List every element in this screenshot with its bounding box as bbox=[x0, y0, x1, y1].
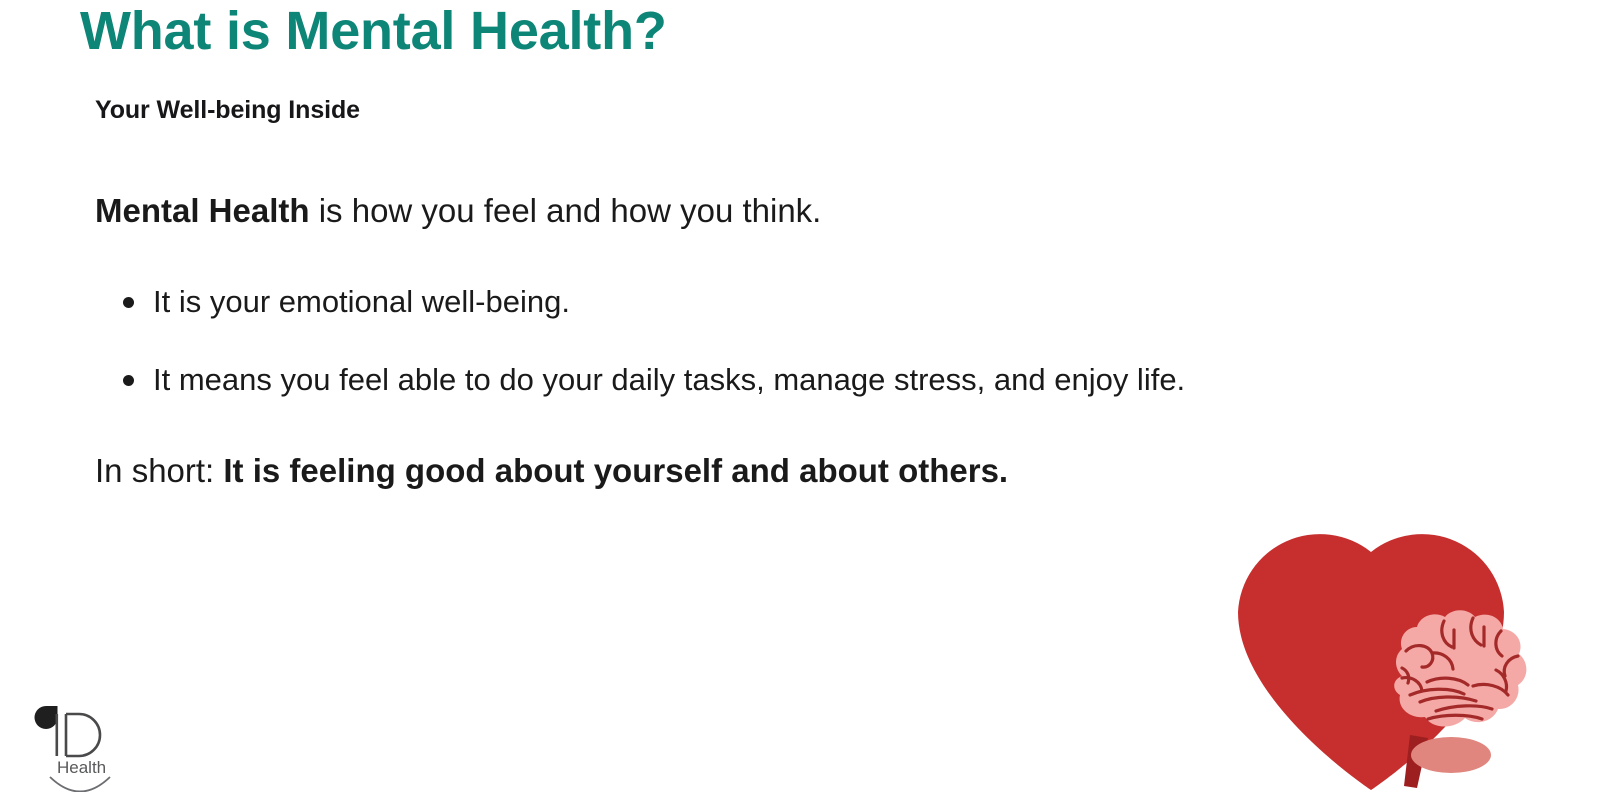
lead-paragraph: Mental Health is how you feel and how yo… bbox=[95, 192, 1205, 231]
logo-wordmark: Health bbox=[57, 758, 106, 777]
bullet-dot-icon bbox=[123, 297, 134, 308]
logo-letter-i bbox=[56, 714, 59, 756]
heart-brain-illustration bbox=[1196, 490, 1546, 800]
body-content: Mental Health is how you feel and how yo… bbox=[95, 192, 1205, 491]
id-health-logo: Health bbox=[24, 688, 136, 792]
closing-strong: It is feeling good about yourself and ab… bbox=[223, 452, 1008, 489]
logo-letter-d bbox=[66, 714, 100, 756]
list-item-label: It is your emotional well-being. bbox=[153, 284, 570, 319]
page-title: What is Mental Health? bbox=[80, 4, 667, 58]
brain-icon bbox=[1394, 610, 1526, 788]
logo-pacman-icon bbox=[35, 706, 58, 729]
bullet-list: It is your emotional well-being. It mean… bbox=[95, 279, 1205, 404]
closing-paragraph: In short: It is feeling good about yours… bbox=[95, 452, 1205, 491]
lead-strong: Mental Health bbox=[95, 192, 310, 229]
lead-rest: is how you feel and how you think. bbox=[310, 192, 822, 229]
list-item: It is your emotional well-being. bbox=[95, 279, 1205, 326]
list-item-label: It means you feel able to do your daily … bbox=[153, 362, 1185, 397]
closing-prefix: In short: bbox=[95, 452, 223, 489]
cerebrum-shape bbox=[1394, 610, 1526, 726]
list-item: It means you feel able to do your daily … bbox=[95, 357, 1205, 404]
logo-swoosh-icon bbox=[50, 777, 110, 792]
page-subtitle: Your Well-being Inside bbox=[95, 96, 360, 125]
cerebellum-shape bbox=[1411, 737, 1491, 773]
bullet-dot-icon bbox=[123, 375, 134, 386]
slide-canvas: What is Mental Health? Your Well-being I… bbox=[0, 0, 1598, 808]
